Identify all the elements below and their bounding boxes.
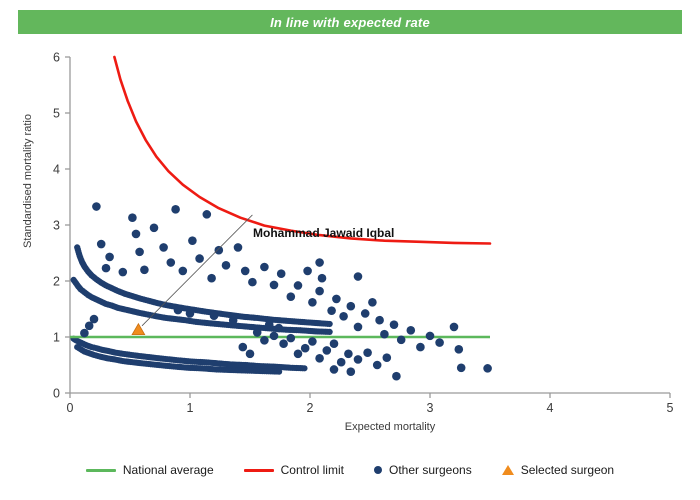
surgeon-point <box>303 267 312 276</box>
legend-label: Selected surgeon <box>521 463 614 477</box>
surgeon-point <box>318 274 327 283</box>
surgeon-point <box>248 278 257 287</box>
y-axis-title: Standardised mortality ratio <box>22 91 34 271</box>
legend-item-control-limit[interactable]: Control limit <box>244 463 344 477</box>
surgeon-point <box>234 243 243 252</box>
surgeon-point <box>80 329 89 338</box>
surgeon-point <box>270 281 279 290</box>
surgeon-point <box>132 230 141 239</box>
funnel-band-dot <box>301 365 307 371</box>
funnel-plot-page: In line with expected rate 0123450123456… <box>0 0 700 500</box>
legend-label: Control limit <box>281 463 344 477</box>
y-tick-label: 0 <box>53 387 60 401</box>
surgeon-point <box>435 338 444 347</box>
chart-legend: National averageControl limitOther surge… <box>0 458 700 482</box>
surgeon-point <box>102 264 111 273</box>
surgeon-point <box>167 258 176 267</box>
surgeon-point <box>373 361 382 370</box>
surgeon-point <box>347 302 356 311</box>
surgeon-point <box>128 213 137 222</box>
surgeon-point <box>294 350 303 359</box>
surgeon-point <box>275 324 284 333</box>
surgeon-point <box>294 281 303 290</box>
surgeon-point <box>455 345 464 354</box>
surgeon-point <box>174 306 183 315</box>
selected-surgeon-annotation: Mohammad Jawaid Iqbal <box>253 226 394 240</box>
surgeon-point <box>203 210 212 219</box>
surgeon-point <box>363 348 372 357</box>
x-tick-label: 2 <box>307 401 314 415</box>
y-tick-label: 3 <box>53 219 60 233</box>
surgeon-point <box>260 336 269 345</box>
y-tick-label: 4 <box>53 163 60 177</box>
surgeon-point <box>159 243 168 252</box>
surgeon-point <box>92 202 101 211</box>
surgeon-point <box>188 236 197 245</box>
surgeon-point <box>150 224 159 233</box>
funnel-band-dot <box>327 329 333 335</box>
navy-dot-icon <box>374 466 382 474</box>
surgeon-point <box>315 258 324 267</box>
surgeon-point <box>354 272 363 281</box>
legend-item-national-average[interactable]: National average <box>86 463 214 477</box>
surgeon-point <box>253 328 262 337</box>
control-limit-curve <box>114 57 490 244</box>
surgeon-point <box>171 205 180 214</box>
surgeon-point <box>279 339 288 348</box>
surgeon-point <box>368 298 377 307</box>
surgeon-point <box>241 267 250 276</box>
surgeon-point <box>239 343 248 352</box>
y-tick-label: 5 <box>53 107 60 121</box>
legend-label: Other surgeons <box>389 463 472 477</box>
surgeon-point <box>390 320 399 329</box>
chart-axes <box>70 57 670 393</box>
surgeon-point <box>287 334 296 343</box>
x-tick-label: 1 <box>187 401 194 415</box>
surgeon-point <box>344 350 353 359</box>
surgeon-point <box>339 312 348 321</box>
surgeon-point <box>330 365 339 374</box>
surgeon-point <box>457 364 466 373</box>
red-line-icon <box>244 469 274 472</box>
surgeon-point <box>207 274 216 283</box>
y-tick-label: 1 <box>53 331 60 345</box>
surgeon-point <box>327 306 336 315</box>
surgeon-point <box>260 263 269 272</box>
x-tick-label: 3 <box>427 401 434 415</box>
surgeon-point <box>416 343 425 352</box>
surgeon-point <box>407 326 416 335</box>
surgeon-point <box>450 323 459 332</box>
surgeon-point <box>354 323 363 332</box>
legend-item-selected-surgeon[interactable]: Selected surgeon <box>502 463 614 477</box>
surgeon-point <box>483 364 492 373</box>
surgeon-point <box>330 339 339 348</box>
surgeon-point <box>323 346 332 355</box>
surgeon-point <box>277 269 286 278</box>
surgeon-point <box>210 311 219 320</box>
surgeon-point <box>361 309 370 318</box>
surgeon-point <box>308 337 317 346</box>
surgeon-point <box>119 268 128 277</box>
surgeon-point <box>337 358 346 367</box>
surgeon-point <box>287 292 296 301</box>
surgeon-point <box>135 248 144 257</box>
surgeon-point <box>195 254 204 263</box>
surgeon-point <box>265 320 274 329</box>
surgeon-point <box>332 295 341 304</box>
surgeon-point <box>179 267 188 276</box>
funnel-band-dot <box>327 321 333 327</box>
chart-plot-area: 0123450123456 <box>0 0 700 440</box>
funnel-band-dot <box>276 369 282 375</box>
surgeon-point <box>397 336 406 345</box>
x-tick-label: 0 <box>67 401 74 415</box>
x-axis-title: Expected mortality <box>0 421 700 433</box>
surgeon-point <box>97 240 106 249</box>
surgeon-point <box>315 287 324 296</box>
surgeon-point <box>140 266 149 275</box>
legend-item-other-surgeons[interactable]: Other surgeons <box>374 463 472 477</box>
surgeon-point <box>90 315 99 324</box>
x-tick-label: 5 <box>667 401 674 415</box>
chart-canvas: 0123450123456 <box>0 0 700 440</box>
y-tick-label: 6 <box>53 51 60 65</box>
surgeon-point <box>347 367 356 376</box>
green-line-icon <box>86 469 116 472</box>
surgeon-point <box>246 350 255 359</box>
surgeon-point <box>375 316 384 325</box>
y-tick-label: 2 <box>53 275 60 289</box>
surgeon-point <box>270 332 279 341</box>
surgeon-point <box>308 298 317 307</box>
x-tick-label: 4 <box>547 401 554 415</box>
surgeon-point <box>392 372 401 381</box>
surgeon-point <box>229 316 238 325</box>
surgeon-point <box>315 354 324 363</box>
surgeon-point <box>383 353 392 362</box>
surgeon-point <box>222 261 231 270</box>
surgeon-point <box>186 309 195 318</box>
surgeon-point <box>426 332 435 341</box>
surgeon-point <box>105 253 114 262</box>
x-axis-title-text: Expected mortality <box>345 421 435 433</box>
legend-label: National average <box>123 463 214 477</box>
surgeon-point <box>380 330 389 339</box>
surgeon-point <box>215 246 224 255</box>
orange-triangle-icon <box>502 465 514 475</box>
surgeon-point <box>301 344 310 353</box>
surgeon-point <box>354 355 363 364</box>
